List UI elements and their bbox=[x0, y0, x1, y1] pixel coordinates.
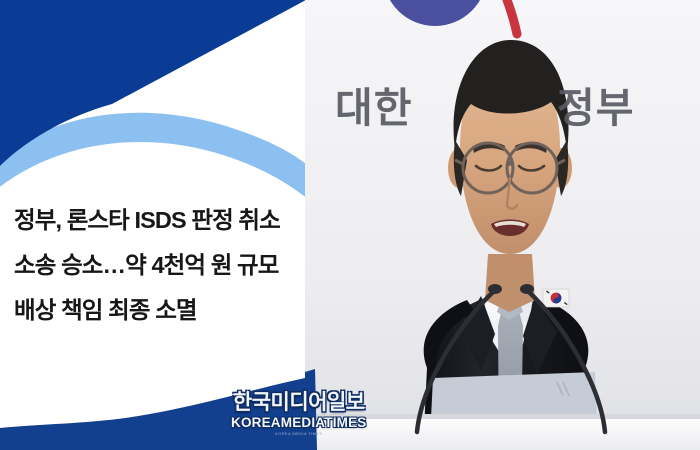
backdrop-text-right: 정부 bbox=[557, 74, 634, 134]
news-card: 정부, 론스타 ISDS 판정 취소 소송 승소…약 4천억 원 규모 배상 책… bbox=[0, 0, 700, 450]
headline-line-1: 정부, 론스타 ISDS 판정 취소 bbox=[14, 198, 299, 243]
watermark: 한국미디어일보 KOREAMEDIATIMES KOREA MEDIA TIME… bbox=[231, 392, 367, 436]
korean-flag-pin-icon bbox=[543, 289, 569, 307]
neck bbox=[485, 254, 535, 312]
left-graphic-panel: 정부, 론스타 ISDS 판정 취소 소송 승소…약 4천억 원 규모 배상 책… bbox=[0, 0, 305, 450]
watermark-korean: 한국미디어일보 bbox=[231, 392, 367, 413]
watermark-sub: KOREA MEDIA TIMES bbox=[231, 432, 367, 436]
headline-line-3: 배상 책임 최종 소멸 bbox=[14, 288, 299, 333]
headline-line-2: 소송 승소…약 4천억 원 규모 bbox=[14, 243, 299, 288]
mic-head-left bbox=[488, 284, 502, 294]
headline: 정부, 론스타 ISDS 판정 취소 소송 승소…약 4천억 원 규모 배상 책… bbox=[14, 198, 299, 333]
news-photo: 대한 정부 bbox=[305, 0, 700, 450]
press-briefing-scene bbox=[305, 0, 700, 450]
mic-head-right bbox=[520, 284, 534, 294]
podium-paper bbox=[431, 372, 597, 418]
backdrop-text-left: 대한 bbox=[335, 74, 412, 134]
watermark-english: KOREAMEDIATIMES bbox=[231, 416, 367, 430]
